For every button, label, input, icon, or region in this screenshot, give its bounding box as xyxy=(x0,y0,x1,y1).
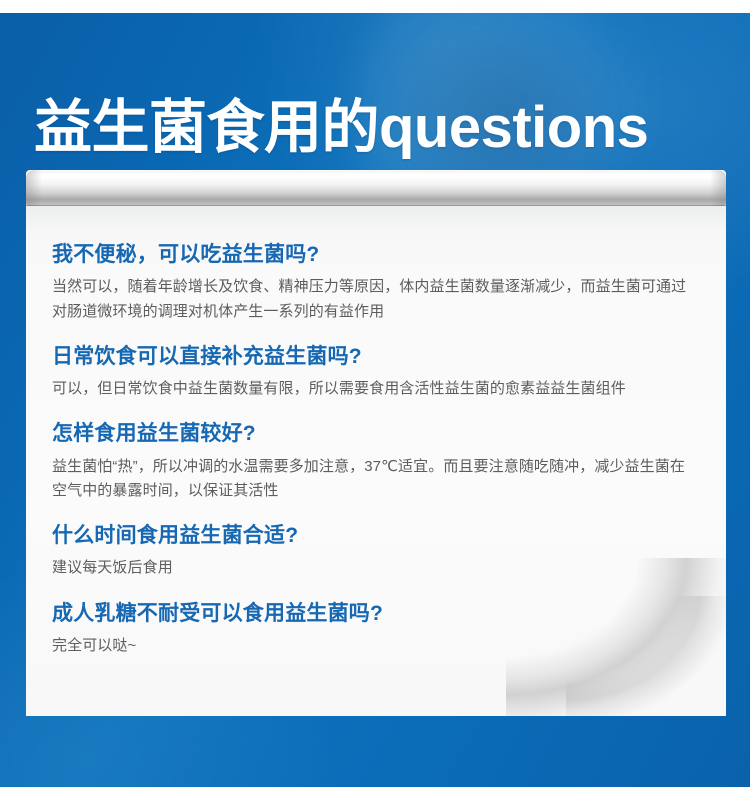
paper-roll-left-cap xyxy=(26,170,42,208)
faq-question: 怎样食用益生菌较好? xyxy=(52,421,700,447)
faq-question: 日常饮食可以直接补充益生菌吗? xyxy=(52,344,700,370)
list-item: 怎样食用益生菌较好? 益生菌怕“热”，所以冲调的水温需要多加注意，37℃适宜。而… xyxy=(52,421,700,503)
faq-list: 我不便秘，可以吃益生菌吗? 当然可以，随着年龄增长及饮食、精神压力等原因，体内益… xyxy=(26,206,726,658)
faq-question: 我不便秘，可以吃益生菌吗? xyxy=(52,242,700,268)
list-item: 什么时间食用益生菌合适? 建议每天饭后食用 xyxy=(52,523,700,581)
faq-answer: 建议每天饭后食用 xyxy=(52,556,700,580)
faq-answer: 完全可以哒~ xyxy=(52,634,700,658)
faq-answer: 益生菌怕“热”，所以冲调的水温需要多加注意，37℃适宜。而且要注意随吃随冲，减少… xyxy=(52,455,700,504)
paper-roll-right-cap xyxy=(710,170,726,208)
faq-question: 成人乳糖不耐受可以食用益生菌吗? xyxy=(52,601,700,627)
faq-poster: 益生菌食用的questions 我不便秘，可以吃益生菌吗? 当然可以，随着年龄增… xyxy=(0,0,750,787)
faq-answer: 可以，但日常饮食中益生菌数量有限，所以需要食用含活性益生菌的愈素益益生菌组件 xyxy=(52,377,700,401)
faq-answer: 当然可以，随着年龄增长及饮食、精神压力等原因，体内益生菌数量逐渐减少，而益生菌可… xyxy=(52,275,700,324)
paper-roll-cylinder xyxy=(26,170,726,208)
faq-question: 什么时间食用益生菌合适? xyxy=(52,523,700,549)
list-item: 我不便秘，可以吃益生菌吗? 当然可以，随着年龄增长及饮食、精神压力等原因，体内益… xyxy=(52,242,700,324)
list-item: 成人乳糖不耐受可以食用益生菌吗? 完全可以哒~ xyxy=(52,601,700,659)
page-title: 益生菌食用的questions xyxy=(34,99,724,157)
list-item: 日常饮食可以直接补充益生菌吗? 可以，但日常饮食中益生菌数量有限，所以需要食用含… xyxy=(52,344,700,402)
